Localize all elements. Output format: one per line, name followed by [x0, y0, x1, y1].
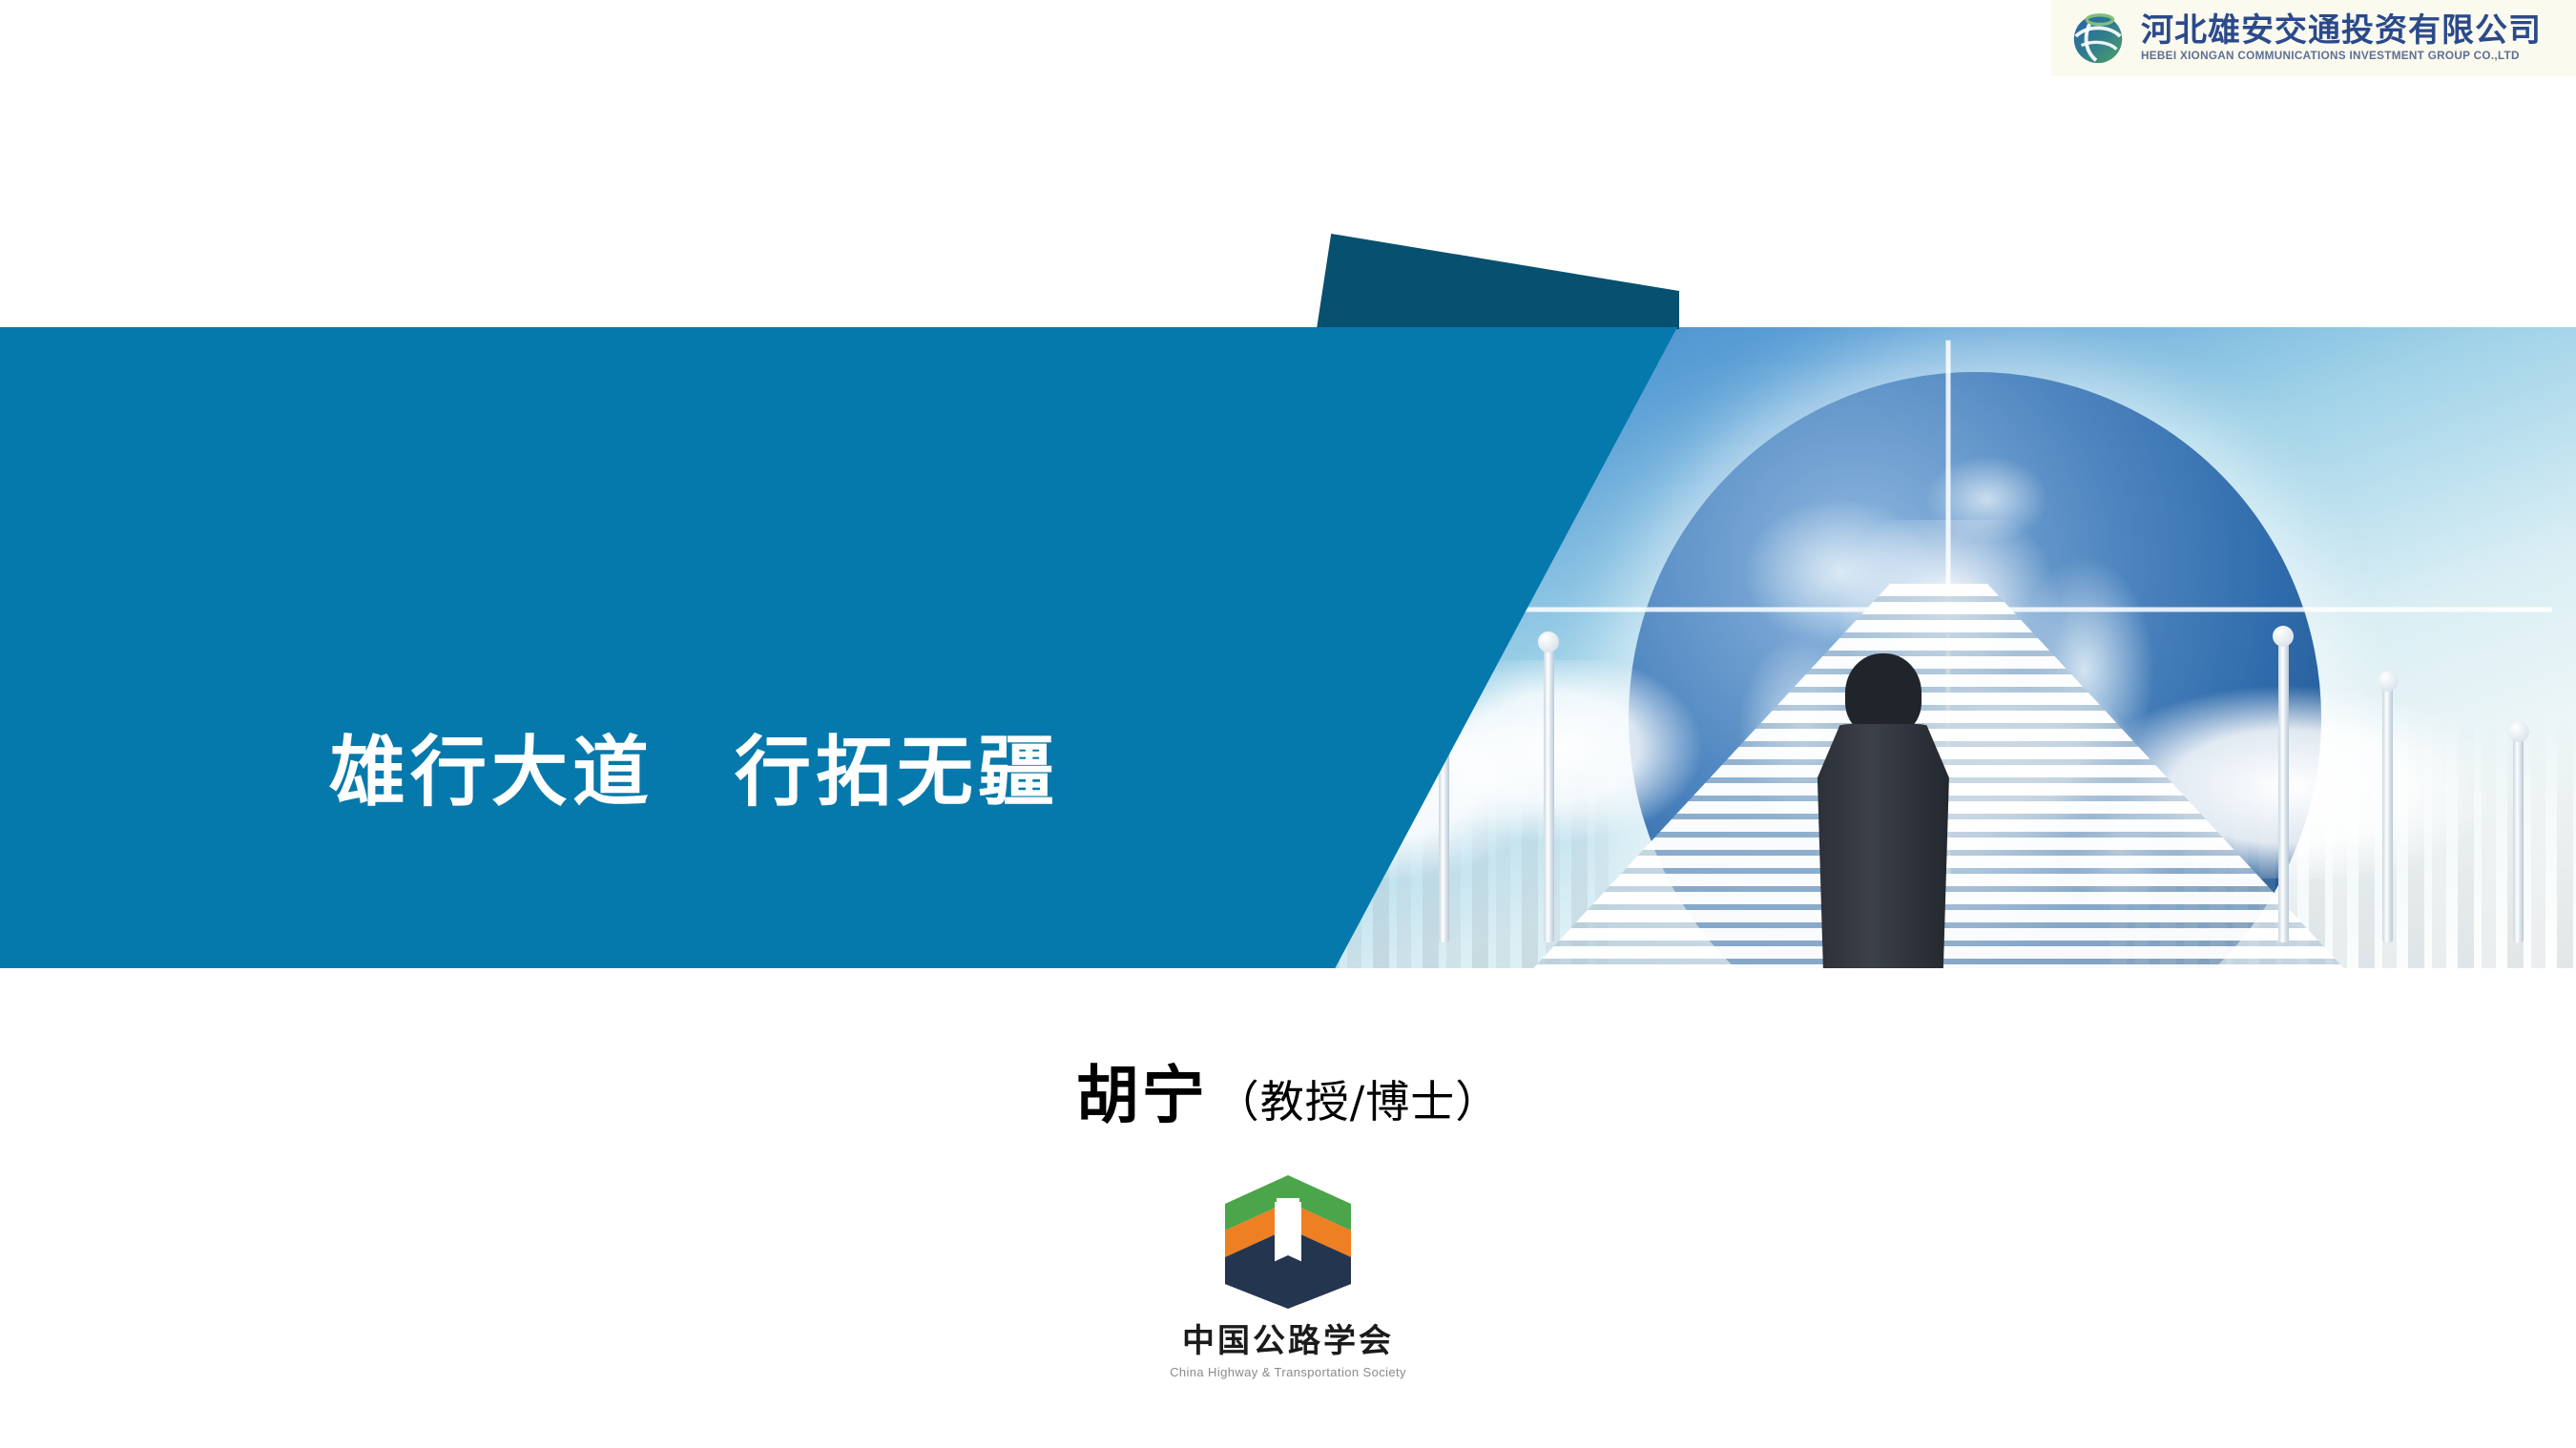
- silhouette-head: [1845, 653, 1922, 735]
- society-logo: 中国公路学会 China Highway & Transportation So…: [1159, 1175, 1417, 1379]
- corporate-logo-text: 河北雄安交通投资有限公司 HEBEI XIONGAN COMMUNICATION…: [2141, 14, 2542, 63]
- presenter-name: 胡宁: [1076, 1058, 1208, 1132]
- businessman-silhouette: [1812, 653, 1955, 968]
- hero-banner: 雄行大道 行拓无疆 ——雄安交投企业文化品牌解读与落地实施: [0, 234, 2576, 968]
- presenter-role: （教授/博士）: [1215, 1076, 1501, 1127]
- presenter-line: 胡宁（教授/博士）: [0, 1045, 2576, 1136]
- slide-title: 雄行大道 行拓无疆: [329, 734, 1059, 811]
- navy-wedge-shape: [1317, 234, 1679, 329]
- society-name-cn: 中国公路学会: [1159, 1314, 1417, 1361]
- stair-post: [2278, 635, 2289, 943]
- corporate-name-en: HEBEI XIONGAN COMMUNICATIONS INVESTMENT …: [2141, 52, 2549, 63]
- hexagon-chevron-icon: [1212, 1175, 1364, 1309]
- presentation-slide: 河北雄安交通投资有限公司 HEBEI XIONGAN COMMUNICATION…: [0, 0, 2576, 1448]
- stair-post: [1544, 641, 1554, 942]
- corporate-logo: 河北雄安交通投资有限公司 HEBEI XIONGAN COMMUNICATION…: [2051, 0, 2576, 76]
- globe-swoosh-icon: [2068, 9, 2128, 68]
- stair-post: [2382, 680, 2393, 943]
- slide-subtitle: ——雄安交投企业文化品牌解读与落地实施: [298, 989, 1204, 1036]
- silhouette-body: [1812, 724, 1955, 968]
- society-name-en: China Highway & Transportation Society: [1159, 1365, 1417, 1379]
- stair-post: [2513, 731, 2524, 942]
- corporate-name-cn: 河北雄安交通投资有限公司: [2141, 14, 2542, 47]
